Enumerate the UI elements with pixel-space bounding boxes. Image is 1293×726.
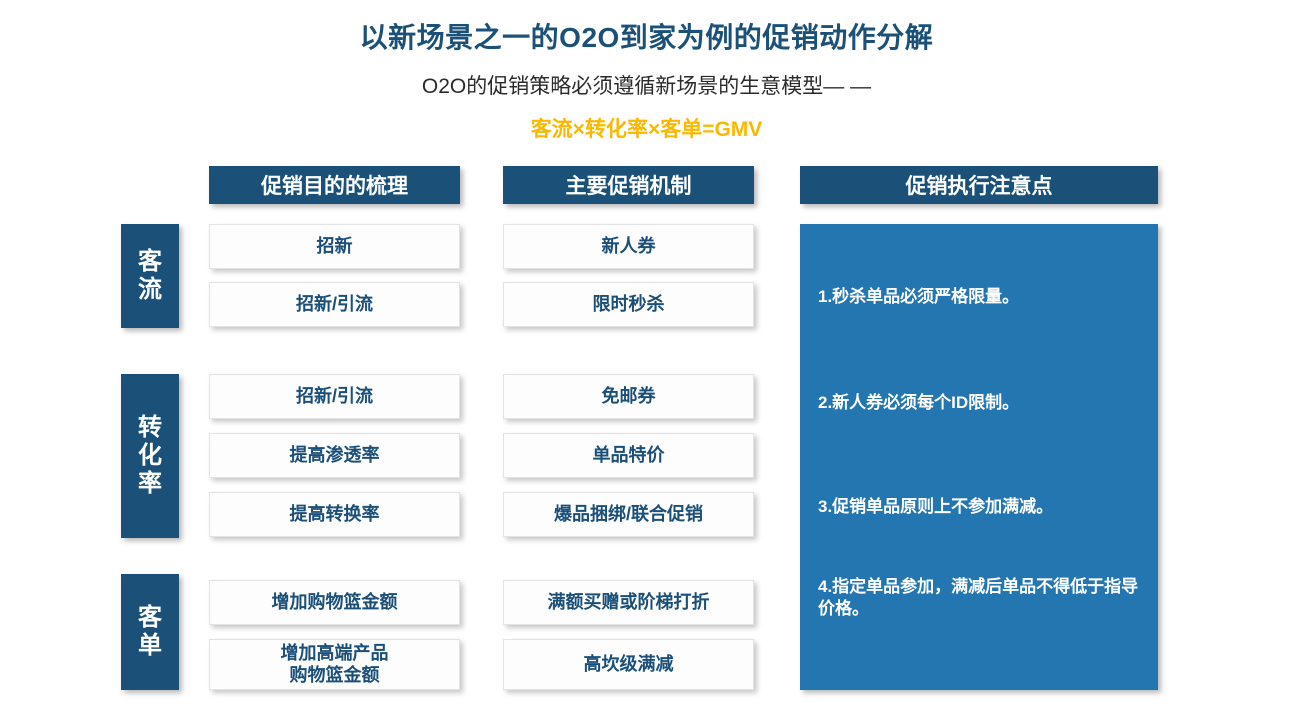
purpose-item[interactable]: 提高渗透率 xyxy=(209,433,460,478)
side-label-char: 流 xyxy=(138,276,162,304)
purpose-item[interactable]: 提高转换率 xyxy=(209,492,460,537)
mechanism-item[interactable]: 满额买赠或阶梯打折 xyxy=(503,580,754,625)
side-label-char: 转 xyxy=(138,414,162,442)
mechanism-item[interactable]: 限时秒杀 xyxy=(503,282,754,327)
side-label-char: 化 xyxy=(138,442,162,470)
column-header-purpose: 促销目的的梳理 xyxy=(209,166,460,204)
page-title: 以新场景之一的O2O到家为例的促销动作分解 xyxy=(0,16,1293,56)
note-item: 2.新人券必须每个ID限制。 xyxy=(818,392,1142,414)
mechanism-item[interactable]: 新人券 xyxy=(503,224,754,269)
page-subtitle: O2O的促销策略必须遵循新场景的生意模型— — xyxy=(0,70,1293,100)
side-label-basket: 客 单 xyxy=(121,574,179,690)
purpose-item[interactable]: 增加购物篮金额 xyxy=(209,580,460,625)
side-label-traffic: 客 流 xyxy=(121,224,179,328)
side-label-char: 率 xyxy=(138,470,162,498)
mechanism-item[interactable]: 单品特价 xyxy=(503,433,754,478)
slide-root: 以新场景之一的O2O到家为例的促销动作分解 O2O的促销策略必须遵循新场景的生意… xyxy=(0,0,1293,726)
purpose-item[interactable]: 增加高端产品购物篮金额 xyxy=(209,639,460,690)
mechanism-item[interactable]: 免邮券 xyxy=(503,374,754,419)
mechanism-item[interactable]: 爆品捆绑/联合促销 xyxy=(503,492,754,537)
column-header-notes: 促销执行注意点 xyxy=(800,166,1158,204)
note-item: 1.秒杀单品必须严格限量。 xyxy=(818,286,1142,308)
side-label-conversion: 转 化 率 xyxy=(121,374,179,538)
mechanism-item[interactable]: 高坎级满减 xyxy=(503,639,754,690)
purpose-item[interactable]: 招新/引流 xyxy=(209,282,460,327)
gmv-formula: 客流×转化率×客单=GMV xyxy=(0,113,1293,143)
notes-panel: 1.秒杀单品必须严格限量。 2.新人券必须每个ID限制。 3.促销单品原则上不参… xyxy=(800,224,1158,690)
side-label-char: 单 xyxy=(138,632,162,660)
note-item: 3.促销单品原则上不参加满减。 xyxy=(818,496,1142,518)
side-label-char: 客 xyxy=(138,604,162,632)
purpose-item[interactable]: 招新 xyxy=(209,224,460,269)
column-header-mechanism: 主要促销机制 xyxy=(503,166,754,204)
side-label-char: 客 xyxy=(138,248,162,276)
purpose-item[interactable]: 招新/引流 xyxy=(209,374,460,419)
note-item: 4.指定单品参加，满减后单品不得低于指导价格。 xyxy=(818,576,1142,620)
